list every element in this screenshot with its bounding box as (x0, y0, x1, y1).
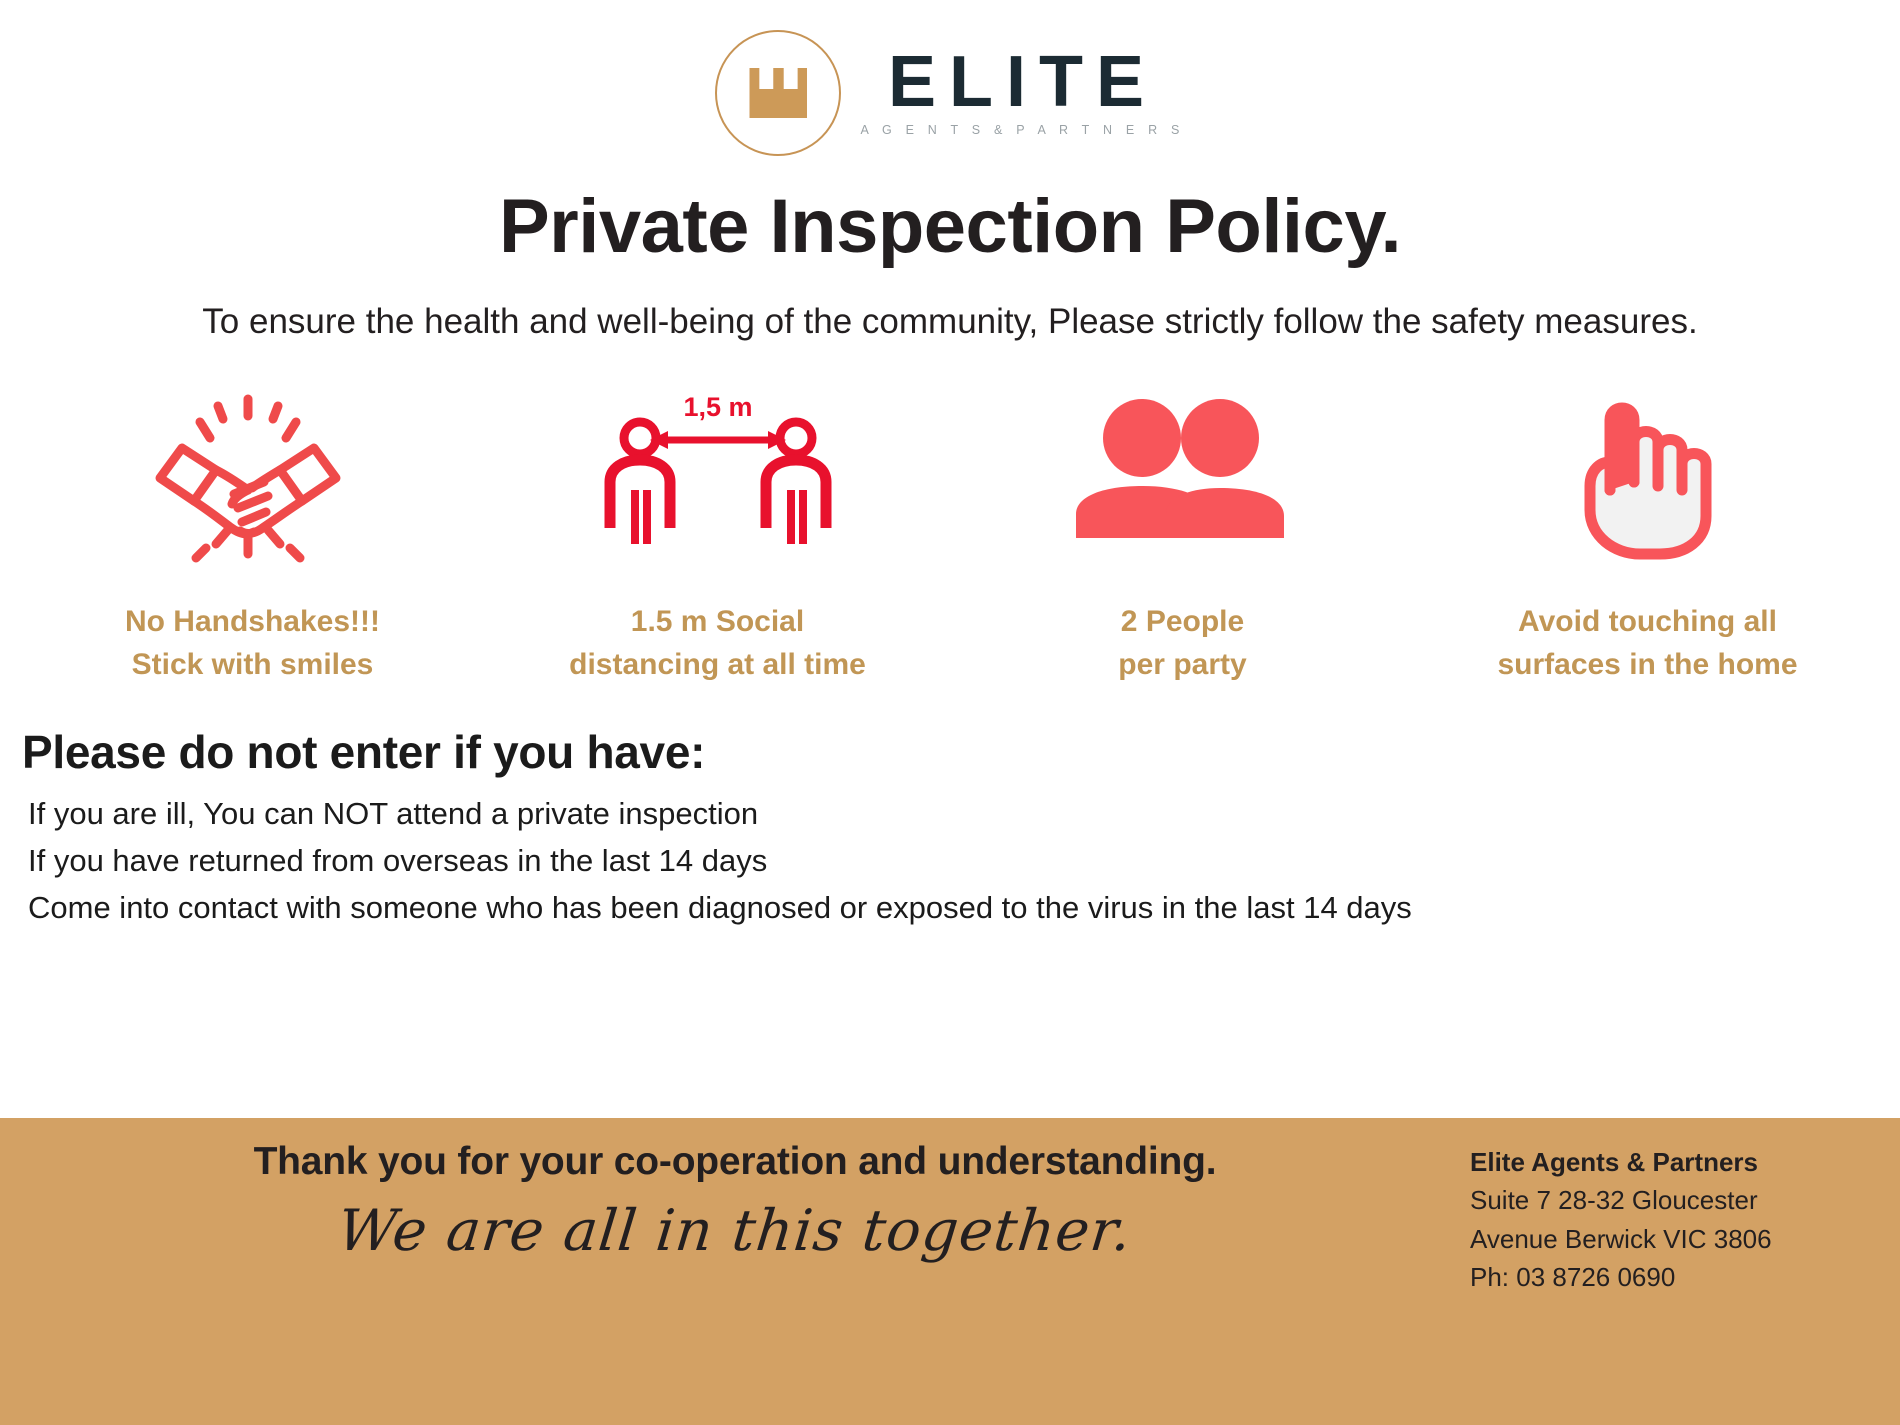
footer-bar: Thank you for your co-operation and unde… (0, 1118, 1900, 1425)
warning-list-item: If you have returned from overseas in th… (28, 837, 1900, 884)
contact-company-name: Elite Agents & Partners (1470, 1143, 1880, 1181)
measure-icon-art (138, 386, 368, 576)
warning-list-item: Come into contact with someone who has b… (28, 884, 1900, 931)
measure-caption-line1: No Handshakes!!! (125, 600, 380, 644)
logo-wordmark: ELITE (875, 49, 1157, 115)
measure-two-people: 2 People per party (950, 386, 1415, 687)
logo-tagline: A G E N T S & P A R T N E R S (847, 123, 1184, 137)
measure-icon-art (1548, 386, 1748, 576)
safety-measures-row: No Handshakes!!! Stick with smiles 1,5 m (0, 386, 1900, 687)
measure-caption-line2: per party (1118, 643, 1246, 687)
warning-block: Please do not enter if you have: If you … (22, 725, 1900, 931)
measure-caption: No Handshakes!!! Stick with smiles (125, 600, 380, 687)
social-distancing-icon: 1,5 m (598, 386, 838, 576)
page-title: Private Inspection Policy. (0, 187, 1900, 267)
measure-icon-art (1068, 386, 1298, 576)
measure-icon-art: 1,5 m (598, 386, 838, 576)
measure-caption-line2: Stick with smiles (125, 643, 380, 687)
logo-text-block: ELITE A G E N T S & P A R T N E R S (847, 49, 1184, 136)
page-subtitle: To ensure the health and well-being of t… (10, 297, 1890, 348)
distance-badge-label: 1,5 m (683, 392, 752, 422)
script-tagline: We are all in this together. (335, 1198, 1136, 1264)
measure-caption-line2: surfaces in the home (1497, 643, 1797, 687)
measure-caption-line1: Avoid touching all (1497, 600, 1797, 644)
logo-lockup: ELITE A G E N T S & P A R T N E R S (715, 30, 1184, 156)
logo-glyph (749, 68, 807, 118)
measure-caption-line1: 1.5 m Social (569, 600, 866, 644)
measure-caption: Avoid touching all surfaces in the home (1497, 600, 1797, 687)
brand-logo: ELITE A G E N T S & P A R T N E R S (0, 0, 1900, 140)
footer-message: Thank you for your co-operation and unde… (0, 1118, 1470, 1264)
warning-heading: Please do not enter if you have: (22, 725, 1900, 779)
two-people-icon (1068, 386, 1298, 576)
warning-list-item: If you are ill, You can NOT attend a pri… (28, 790, 1900, 837)
handshake-crossed-icon (138, 386, 368, 576)
measure-caption-line1: 2 People (1118, 600, 1246, 644)
pointing-hand-icon (1548, 386, 1748, 576)
measure-avoid-touching: Avoid touching all surfaces in the home (1415, 386, 1880, 687)
measure-social-distancing: 1,5 m 1.5 m Social distan (485, 386, 950, 687)
measure-caption: 2 People per party (1118, 600, 1246, 687)
measure-caption: 1.5 m Social distancing at all time (569, 600, 866, 687)
elite-crenellated-e-icon (715, 30, 841, 156)
measure-no-handshakes: No Handshakes!!! Stick with smiles (20, 386, 485, 687)
measure-caption-line2: distancing at all time (569, 643, 866, 687)
contact-address-line1: Suite 7 28-32 Gloucester (1470, 1181, 1880, 1219)
contact-details: Elite Agents & Partners Suite 7 28-32 Gl… (1470, 1118, 1900, 1297)
contact-address-line2: Avenue Berwick VIC 3806 (1470, 1220, 1880, 1258)
warning-list: If you are ill, You can NOT attend a pri… (22, 790, 1900, 931)
contact-phone: Ph: 03 8726 0690 (1470, 1258, 1880, 1296)
thank-you-text: Thank you for your co-operation and unde… (254, 1140, 1217, 1184)
